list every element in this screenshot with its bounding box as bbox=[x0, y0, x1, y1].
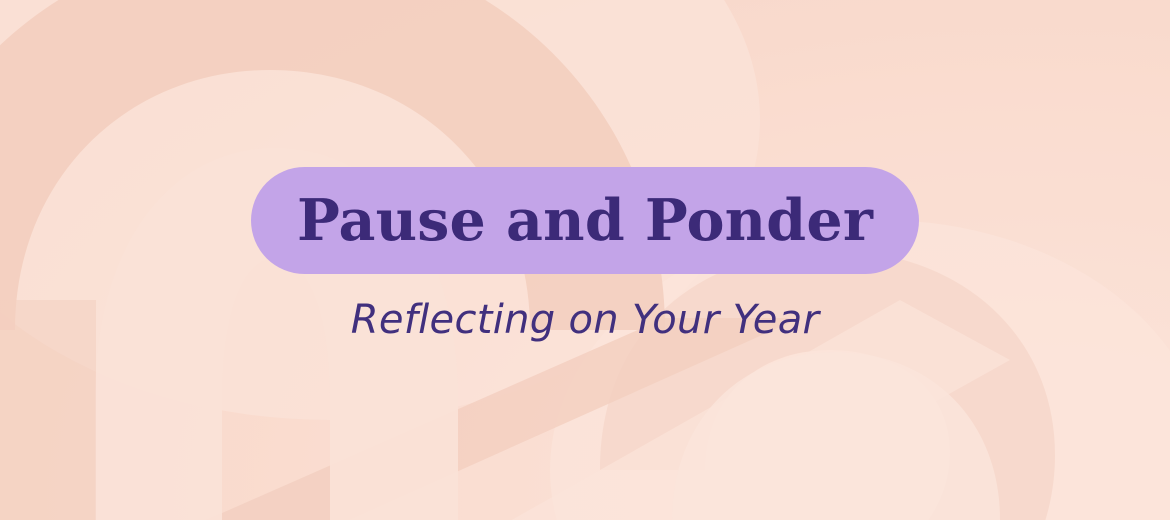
pause-and-ponder-banner: Pause and Ponder Reflecting on Your Year bbox=[0, 0, 1170, 520]
page-title: Pause and Ponder bbox=[297, 192, 873, 249]
banner-content: Pause and Ponder Reflecting on Your Year bbox=[0, 0, 1170, 520]
title-pill-badge: Pause and Ponder bbox=[251, 167, 919, 274]
page-subtitle: Reflecting on Your Year bbox=[351, 300, 820, 340]
